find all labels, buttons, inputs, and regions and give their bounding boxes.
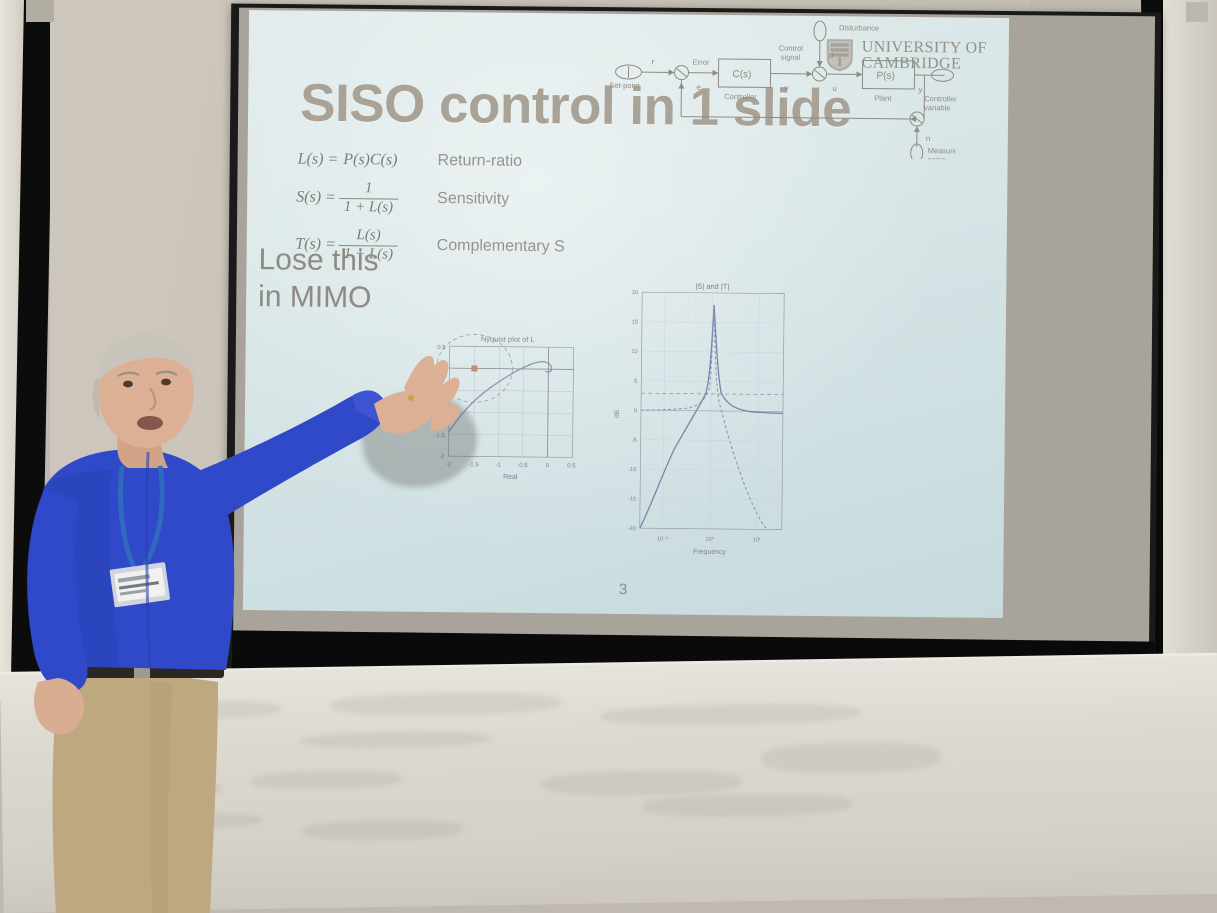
signal-caption-setpoint: Set-point — [609, 81, 640, 90]
ceiling-fixture-right — [1186, 2, 1208, 22]
signal-label-v: v — [784, 84, 788, 93]
x-tick: 0.5 — [567, 463, 576, 469]
critical-point-marker — [471, 365, 477, 371]
y-tick: 0 — [634, 408, 637, 414]
annotation-line-1: Lose this — [258, 242, 378, 280]
presenter-badge — [109, 562, 170, 607]
nyquist-title: Nyquist plot of L — [481, 334, 535, 344]
x-tick: 0 — [546, 463, 550, 469]
complementary-sensitivity-curve — [640, 305, 770, 529]
nyquist-xlabel: Real — [503, 474, 518, 481]
equation-math: L(s) = P(s)C(s) — [272, 150, 424, 170]
y-tick: 5 — [634, 379, 637, 385]
equation-row: S(s) = 1 1 + L(s) Sensitivity — [271, 179, 601, 218]
bode-chart: |S| and |T| — [605, 276, 800, 568]
equation-row: L(s) = P(s)C(s) Return-ratio — [272, 150, 602, 171]
equation-lhs: S(s) = — [296, 189, 336, 207]
equation-label: Return-ratio — [423, 152, 522, 171]
fraction-numerator: 1 — [360, 180, 378, 197]
lecture-photo-scene: UNIVERSITY OF CAMBRIDGE SISO control in … — [0, 0, 1217, 913]
block-label-controller: C(s) — [732, 69, 751, 80]
signal-label-y: y — [918, 85, 922, 94]
x-tick: -1 — [496, 463, 502, 469]
signal-caption-controlled-2: variable — [924, 103, 950, 112]
y-tick: -10 — [628, 467, 636, 473]
wall-right-edge — [1163, 0, 1217, 700]
signal-label-n: n — [926, 134, 931, 143]
presenter — [0, 330, 460, 913]
equation-math: S(s) = 1 1 + L(s) — [271, 179, 423, 217]
bode-title: |S| and |T| — [695, 282, 729, 291]
signal-caption-signal: signal — [781, 53, 801, 62]
bode-ylabel: dB — [614, 410, 621, 418]
x-tick: -0.5 — [517, 463, 528, 469]
presenter-eye-left — [123, 381, 133, 388]
ceiling-fixture-left — [26, 0, 54, 22]
y-tick: 15 — [632, 320, 638, 326]
y-tick: -15 — [628, 497, 636, 503]
equation-label: Sensitivity — [423, 190, 509, 209]
signal-caption-noise-2: noise — [928, 155, 946, 159]
x-tick: 10¹ — [753, 537, 761, 543]
equation-fraction: 1 1 + L(s) — [339, 180, 399, 217]
signal-caption-control: Control — [779, 44, 804, 53]
y-tick: 20 — [632, 290, 638, 296]
y-tick: 10 — [631, 349, 637, 355]
fraction-numerator: L(s) — [351, 227, 385, 244]
fraction-denominator: 1 + L(s) — [339, 198, 398, 217]
signal-label-r: r — [652, 57, 655, 66]
equation-rhs: P(s)C(s) — [338, 151, 397, 170]
presenter-mouth — [137, 416, 163, 430]
y-tick: -20 — [628, 526, 636, 532]
block-caption-plant: Plant — [874, 94, 892, 103]
signal-label-u: u — [832, 84, 837, 93]
x-tick: 10⁰ — [705, 536, 714, 543]
signal-caption-controlled-1: Controlled — [924, 94, 957, 103]
equation-lhs: L(s) = — [298, 151, 339, 169]
signal-label-e: e — [696, 83, 701, 92]
block-diagram: C(s) P(s) Controller Plant r Set-point E… — [606, 16, 957, 160]
bode-xlabel: Frequency — [693, 549, 727, 556]
slide-annotation: Lose this in MIMO — [258, 242, 379, 316]
signal-caption-error: Error — [693, 58, 710, 67]
peak-bound-line — [641, 393, 783, 394]
presenter-right-hand — [374, 356, 459, 434]
x-tick: -1.5 — [468, 462, 479, 468]
block-caption-controller: Controller — [724, 92, 757, 101]
signal-caption-disturbance: Disturbance — [839, 23, 879, 32]
equation-label: Complementary S — [423, 237, 565, 256]
presenter-ring — [408, 395, 414, 401]
sensitivity-curve — [640, 304, 784, 529]
x-tick: 10⁻¹ — [657, 536, 668, 542]
block-label-plant: P(s) — [876, 71, 894, 82]
presenter-eye-right — [161, 379, 171, 386]
signal-label-d: d — [829, 51, 834, 60]
annotation-line-2: in MIMO — [258, 279, 378, 317]
y-tick: -5 — [632, 438, 637, 444]
